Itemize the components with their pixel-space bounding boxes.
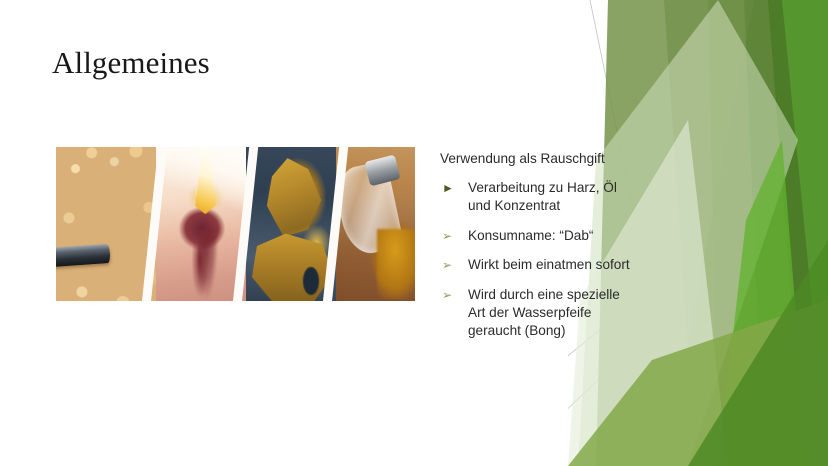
concentrates-collage-image	[56, 147, 415, 301]
body-text-block: Verwendung als Rauschgift ► Verarbeitung…	[440, 150, 632, 352]
arrow-right-icon: ➢	[442, 258, 456, 272]
slide-canvas: Allgemeines Verwendung als Rauschgift ► …	[0, 0, 828, 466]
list-item-label: Wirkt beim einatmen sofort	[468, 257, 630, 272]
list-item-label: Konsumname: “Dab“	[468, 228, 593, 243]
bullet-list: ► Verarbeitung zu Harz, Öl und Konzentra…	[440, 179, 632, 341]
list-item: ➢ Wird durch eine spezielle Art der Wass…	[440, 286, 632, 341]
list-item: ➢ Wirkt beim einatmen sofort	[440, 256, 632, 274]
slide-title: Allgemeines	[52, 44, 210, 82]
arrow-right-icon: ➢	[442, 288, 456, 302]
list-item: ➢ Konsumname: “Dab“	[440, 227, 632, 245]
solid-triangle-right-icon: ►	[442, 181, 456, 195]
list-item: ► Verarbeitung zu Harz, Öl und Konzentra…	[440, 179, 632, 216]
list-item-label: Verarbeitung zu Harz, Öl und Konzentrat	[468, 180, 617, 213]
collage-panel-rosin-jar	[336, 147, 415, 301]
lead-paragraph: Verwendung als Rauschgift	[440, 150, 632, 167]
list-item-label: Wird durch eine spezielle Art der Wasser…	[468, 287, 620, 339]
arrow-right-icon: ➢	[442, 229, 456, 243]
